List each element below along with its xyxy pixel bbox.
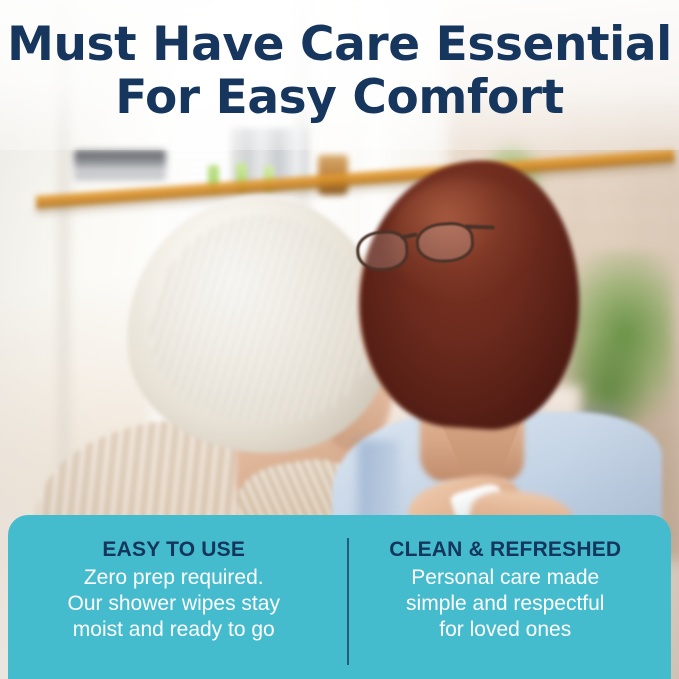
feature-column-easy-to-use: EASY TO USE Zero prep required. Our show… (8, 515, 340, 643)
feature-heading: EASY TO USE (8, 537, 340, 563)
feature-body: Zero prep required. Our shower wipes sta… (8, 565, 340, 643)
feature-body-line: Personal care made (340, 565, 672, 591)
feature-body: Personal care made simple and respectful… (340, 565, 672, 643)
feature-column-clean-refreshed: CLEAN & REFRESHED Personal care made sim… (340, 515, 672, 643)
feature-body-line: simple and respectful (340, 591, 672, 617)
feature-body-line: Our shower wipes stay (8, 591, 340, 617)
page-title-line-2: For Easy Comfort (0, 71, 679, 124)
product-lifestyle-poster: Must Have Care Essential For Easy Comfor… (0, 0, 679, 679)
feature-body-line: moist and ready to go (8, 617, 340, 643)
feature-heading: CLEAN & REFRESHED (340, 537, 672, 563)
feature-body-line: Zero prep required. (8, 565, 340, 591)
feature-column-divider (347, 538, 349, 665)
page-title: Must Have Care Essential For Easy Comfor… (0, 18, 679, 124)
feature-body-line: for loved ones (340, 617, 672, 643)
page-title-line-1: Must Have Care Essential (0, 18, 679, 71)
feature-banner: EASY TO USE Zero prep required. Our show… (8, 515, 671, 679)
